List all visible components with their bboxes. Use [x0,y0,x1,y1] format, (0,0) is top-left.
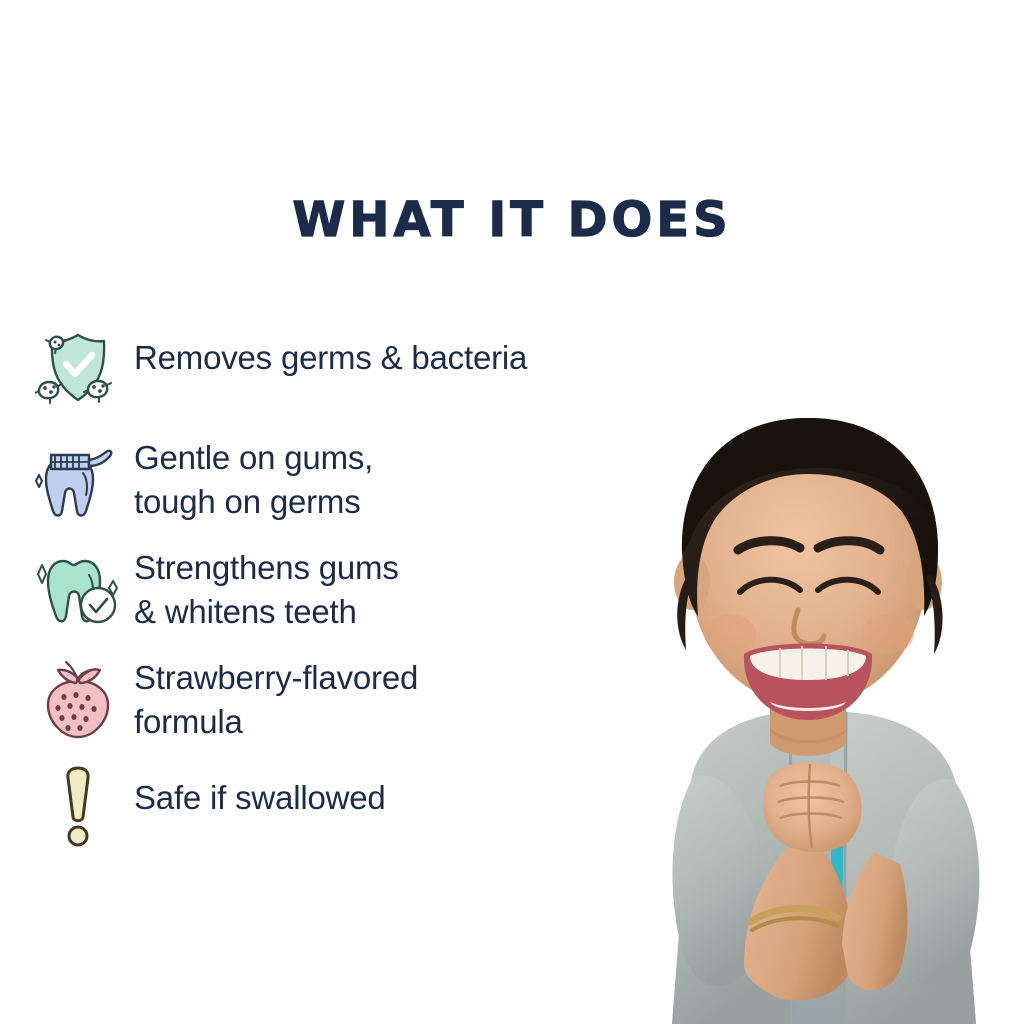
benefit-item: Removes germs & bacteria [22,322,662,418]
benefit-item: Strengthens gums & whitens teeth [22,544,662,640]
page-title: WHAT IT DOES [0,192,1024,248]
smiling-toddler-photo [594,324,1024,1024]
benefit-label: Strawberry-flavored formula [134,654,662,744]
benefit-label: Strengthens gums & whitens teeth [134,544,662,634]
right-cheek [862,614,914,654]
benefit-label: Gentle on gums, tough on germs [134,434,662,524]
benefit-label: Safe if swallowed [134,760,662,820]
strawberry-icon [22,654,134,746]
exclamation-mark-icon [22,760,134,852]
benefit-label: Removes germs & bacteria [134,322,662,380]
benefit-item: Safe if swallowed [22,760,662,856]
benefit-line: Strengthens gums [134,546,662,590]
benefit-line: Strawberry-flavored [134,656,662,700]
benefit-line: & whitens teeth [134,590,662,634]
benefit-item: Gentle on gums, tough on germs [22,434,662,530]
tooth-sparkle-check-icon [22,544,134,636]
clasped-hands [763,763,862,853]
benefit-line: Gentle on gums, [134,436,662,480]
infographic-root: WHAT IT DOES [0,0,1024,1024]
benefits-list: Removes germs & bacteria [22,322,662,856]
benefit-line: Removes germs & bacteria [134,336,662,380]
left-cheek [704,614,756,654]
benefit-item: Strawberry-flavored formula [22,654,662,750]
benefit-line: Safe if swallowed [134,776,662,820]
benefit-line: tough on germs [134,480,662,524]
tooth-toothbrush-icon [22,434,134,526]
benefit-line: formula [134,700,662,744]
shield-check-germs-icon [22,322,134,414]
